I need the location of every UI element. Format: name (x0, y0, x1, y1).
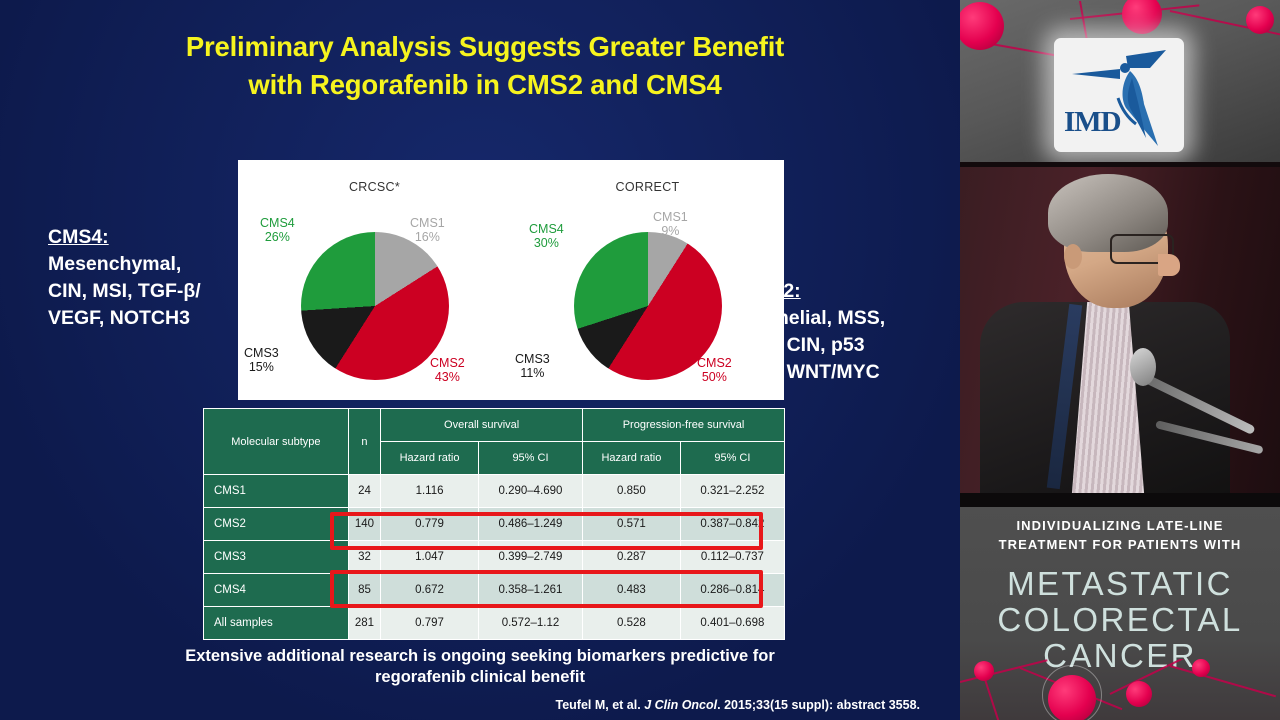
slide-title-line2: with Regorafenib in CMS2 and CMS4 (50, 66, 920, 104)
row-n: 281 (348, 607, 380, 640)
imda-logo: IMD (1054, 38, 1184, 152)
row-os-ci: 0.290–4.690 (478, 475, 582, 508)
pie-crcsc-label-cms2: CMS243% (430, 356, 465, 385)
network-node (960, 2, 1004, 50)
row-pfs-ci: 0.286–0.814 (680, 574, 784, 607)
speaker-video[interactable] (960, 162, 1280, 507)
network-edge (1170, 665, 1276, 697)
speaker-nose (1158, 254, 1180, 276)
row-os-ci: 0.399–2.749 (478, 541, 582, 574)
network-node (974, 661, 994, 681)
network-node (1048, 675, 1096, 720)
table-row: CMS4 85 0.672 0.358–1.261 0.483 0.286–0.… (204, 574, 785, 607)
row-subtype: All samples (204, 607, 349, 640)
network-node (1122, 0, 1162, 34)
row-n: 85 (348, 574, 380, 607)
video-top-bar (960, 162, 1280, 167)
network-node (1246, 6, 1274, 34)
pie-charts-panel: CRCSC* CMS426% CMS116% CMS315% CMS243% C… (238, 160, 784, 400)
pie-crcsc-label-cms4: CMS426% (260, 216, 295, 245)
citation-journal: J Clin Oncol (644, 698, 717, 712)
video-player-frame: Preliminary Analysis Suggests Greater Be… (0, 0, 1280, 720)
row-subtype: CMS3 (204, 541, 349, 574)
row-pfs-hr: 0.483 (583, 574, 681, 607)
kicker-line2: TREATMENT FOR PATIENTS WITH (960, 536, 1280, 555)
row-os-hr: 1.047 (381, 541, 479, 574)
table-row: CMS2 140 0.779 0.486–1.249 0.571 0.387–0… (204, 508, 785, 541)
table-header-pfs-hr: Hazard ratio (583, 442, 681, 475)
pie-chart-correct: CORRECT CMS430% CMS19% CMS311% CMS250% (511, 160, 784, 400)
citation-author: Teufel M, et al. (556, 698, 641, 712)
row-pfs-hr: 0.287 (583, 541, 681, 574)
row-subtype: CMS2 (204, 508, 349, 541)
row-pfs-hr: 0.850 (583, 475, 681, 508)
presentation-slide: Preliminary Analysis Suggests Greater Be… (0, 0, 960, 720)
table-header-os-ci: 95% CI (478, 442, 582, 475)
pie-chart-crcsc-graphic (301, 232, 449, 380)
row-n: 24 (348, 475, 380, 508)
program-title-line2: COLORECTAL (960, 603, 1280, 636)
table-header-n: n (348, 409, 380, 475)
cms4-description-block: CMS4: Mesenchymal, CIN, MSI, TGF-β/ VEGF… (48, 224, 243, 332)
slide-citation: Teufel M, et al. J Clin Oncol. 2015;33(1… (300, 698, 920, 712)
pie-correct-label-cms1: CMS19% (653, 210, 688, 239)
table-header-os-hr: Hazard ratio (381, 442, 479, 475)
row-pfs-ci: 0.321–2.252 (680, 475, 784, 508)
survival-table: Molecular subtype n Overall survival Pro… (203, 408, 785, 640)
row-pfs-ci: 0.112–0.737 (680, 541, 784, 574)
table-group-overall-survival: Overall survival (381, 409, 583, 442)
row-os-hr: 0.797 (381, 607, 479, 640)
table-header-pfs-ci: 95% CI (680, 442, 784, 475)
table-group-header-row: Molecular subtype n Overall survival Pro… (204, 409, 785, 442)
slide-title: Preliminary Analysis Suggests Greater Be… (50, 28, 920, 104)
kicker-line1: INDIVIDUALIZING LATE-LINE (960, 517, 1280, 536)
row-os-hr: 1.116 (381, 475, 479, 508)
table-header-subtype: Molecular subtype (204, 409, 349, 475)
pie-crcsc-label-cms3: CMS315% (244, 346, 279, 375)
slide-title-line1: Preliminary Analysis Suggests Greater Be… (50, 28, 920, 66)
table-row: CMS3 32 1.047 0.399–2.749 0.287 0.112–0.… (204, 541, 785, 574)
sidebar-column: IMD (960, 0, 1280, 720)
network-node (1126, 681, 1152, 707)
row-os-ci: 0.486–1.249 (478, 508, 582, 541)
pie-correct-label-cms3: CMS311% (515, 352, 550, 381)
speaker-ear (1064, 244, 1082, 269)
program-title-line1: METASTATIC (960, 567, 1280, 600)
caption-line1: Extensive additional research is ongoing… (110, 646, 850, 667)
program-kicker: INDIVIDUALIZING LATE-LINE TREATMENT FOR … (960, 517, 1280, 555)
row-os-ci: 0.572–1.12 (478, 607, 582, 640)
pie-chart-crcsc: CRCSC* CMS426% CMS116% CMS315% CMS243% (238, 160, 511, 400)
cms4-line1: Mesenchymal, (48, 253, 181, 275)
caption-line2: regorafenib clinical benefit (110, 667, 850, 688)
pie-correct-label-cms4: CMS430% (529, 222, 564, 251)
cms4-line2: CIN, MSI, TGF-β/ (48, 280, 201, 302)
row-os-hr: 0.672 (381, 574, 479, 607)
program-title-card: INDIVIDUALIZING LATE-LINE TREATMENT FOR … (960, 507, 1280, 720)
slide-caption: Extensive additional research is ongoing… (110, 646, 850, 688)
table-group-pfs: Progression-free survival (583, 409, 785, 442)
network-decoration (960, 659, 1280, 720)
row-subtype: CMS4 (204, 574, 349, 607)
row-os-hr: 0.779 (381, 508, 479, 541)
pie-chart-correct-title: CORRECT (511, 180, 784, 194)
pie-chart-crcsc-title: CRCSC* (238, 180, 511, 194)
row-pfs-hr: 0.571 (583, 508, 681, 541)
logo-panel: IMD (960, 0, 1280, 162)
cms4-line3: VEGF, NOTCH3 (48, 307, 190, 329)
row-subtype: CMS1 (204, 475, 349, 508)
kingfisher-bird-icon (1054, 38, 1184, 152)
cms4-heading: CMS4: (48, 224, 243, 251)
row-n: 32 (348, 541, 380, 574)
microphone-icon (1130, 348, 1156, 386)
row-pfs-ci: 0.401–0.698 (680, 607, 784, 640)
table-row: CMS1 24 1.116 0.290–4.690 0.850 0.321–2.… (204, 475, 785, 508)
row-n: 140 (348, 508, 380, 541)
citation-rest: . 2015;33(15 suppl): abstract 3558. (717, 698, 920, 712)
table-row: All samples 281 0.797 0.572–1.12 0.528 0… (204, 607, 785, 640)
pie-crcsc-label-cms1: CMS116% (410, 216, 445, 245)
row-pfs-ci: 0.387–0.842 (680, 508, 784, 541)
pie-correct-label-cms2: CMS250% (697, 356, 732, 385)
row-pfs-hr: 0.528 (583, 607, 681, 640)
network-edge (1110, 659, 1201, 695)
row-os-ci: 0.358–1.261 (478, 574, 582, 607)
network-node (1192, 659, 1210, 677)
podium (960, 493, 1280, 507)
